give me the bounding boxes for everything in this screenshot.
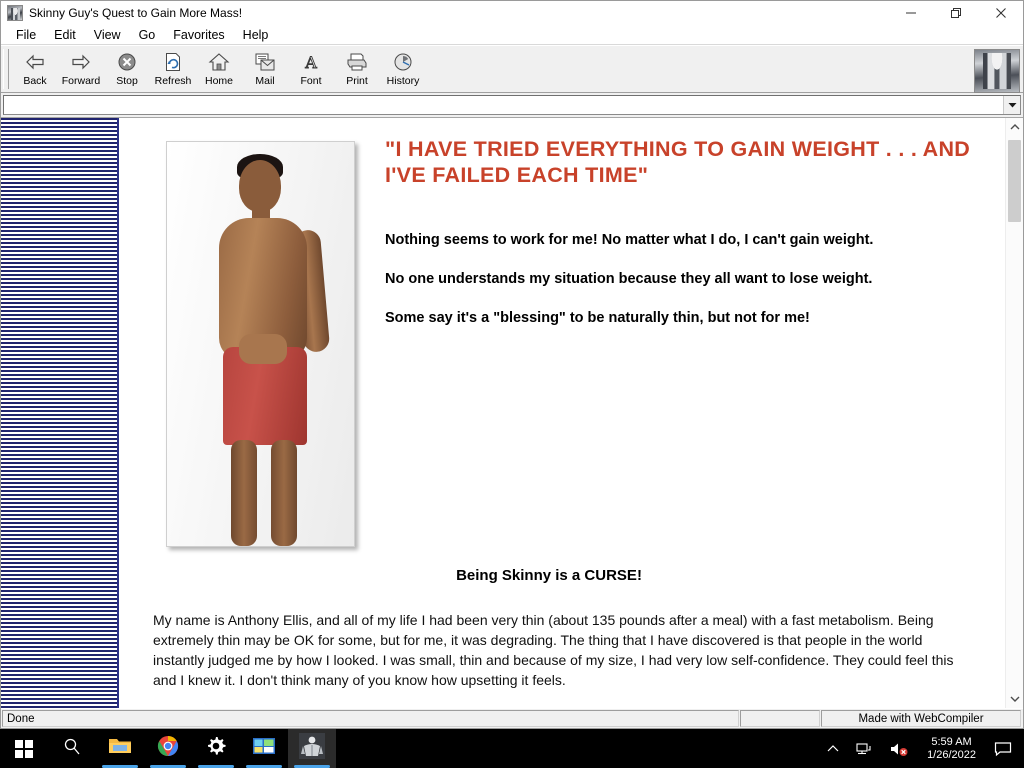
scrollbar-track[interactable] — [1006, 136, 1023, 690]
clock-date: 1/26/2022 — [927, 749, 976, 762]
restore-icon[interactable] — [933, 1, 978, 25]
scrollbar-thumb[interactable] — [1008, 140, 1021, 222]
refresh-page-icon — [161, 51, 185, 73]
chrome-icon — [157, 735, 179, 762]
search-icon — [63, 737, 81, 760]
back-button[interactable]: Back — [12, 48, 58, 92]
system-tray: 5:59 AM 1/26/2022 — [819, 729, 1024, 768]
forward-label: Forward — [62, 75, 101, 87]
lead-paragraph-3: Some say it's a "blessing" to be natural… — [385, 308, 989, 329]
menu-item-file[interactable]: File — [7, 25, 45, 45]
font-label: Font — [300, 75, 321, 87]
window-controls — [888, 1, 1023, 25]
menu-item-edit[interactable]: Edit — [45, 25, 85, 45]
mail-envelope-icon — [253, 51, 277, 73]
lead-paragraph-1: Nothing seems to work for me! No matter … — [385, 230, 989, 251]
mail-tiles-icon — [252, 736, 276, 761]
striped-sidebar — [1, 118, 119, 708]
mail-button[interactable]: Mail — [242, 48, 288, 92]
notification-icon[interactable] — [986, 729, 1020, 768]
chevron-up-icon[interactable] — [819, 729, 847, 768]
clock-time: 5:59 AM — [927, 736, 976, 749]
close-icon[interactable] — [978, 1, 1023, 25]
printer-icon — [345, 51, 369, 73]
start-button[interactable] — [0, 729, 48, 768]
arrow-left-icon — [23, 51, 47, 73]
browser-window: Skinny Guy's Quest to Gain More Mass! — [0, 0, 1024, 729]
font-button[interactable]: A Font — [288, 48, 334, 92]
sub-headline: Being Skinny is a CURSE! — [149, 567, 989, 584]
bodybuilder-torso-image — [974, 49, 1020, 93]
file-explorer-button[interactable] — [96, 729, 144, 768]
network-icon[interactable] — [847, 729, 881, 768]
home-button[interactable]: Home — [196, 48, 242, 92]
chevron-down-icon[interactable] — [1006, 690, 1023, 708]
menu-item-favorites[interactable]: Favorites — [164, 25, 233, 45]
volume-muted-icon[interactable] — [881, 729, 917, 768]
thin-man-in-red-shorts-photo — [166, 141, 355, 547]
status-credit: Made with WebCompiler — [821, 710, 1021, 727]
stop-x-circle-icon — [115, 51, 139, 73]
body-paragraph: My name is Anthony Ellis, and all of my … — [149, 610, 989, 690]
gear-icon — [205, 735, 227, 762]
svg-text:A: A — [304, 53, 317, 72]
address-input[interactable] — [3, 95, 1021, 115]
minimize-icon[interactable] — [888, 1, 933, 25]
toolbar: Back Forward — [1, 45, 1023, 93]
taskbar-clock[interactable]: 5:59 AM 1/26/2022 — [917, 736, 986, 762]
history-clock-icon — [391, 51, 415, 73]
vertical-scrollbar[interactable] — [1005, 118, 1023, 708]
menu-item-go[interactable]: Go — [130, 25, 165, 45]
screen: Skinny Guy's Quest to Gain More Mass! — [0, 0, 1024, 768]
font-letter-a-icon: A — [299, 51, 323, 73]
lead-paragraph-2: No one understands my situation because … — [385, 269, 989, 290]
page-headline: "I HAVE TRIED EVERYTHING TO GAIN WEIGHT … — [385, 136, 989, 188]
title-bar: Skinny Guy's Quest to Gain More Mass! — [1, 1, 1023, 25]
document-body: "I HAVE TRIED EVERYTHING TO GAIN WEIGHT … — [119, 118, 1023, 708]
chrome-button[interactable] — [144, 729, 192, 768]
windows-logo-icon — [15, 740, 33, 758]
history-button[interactable]: History — [380, 48, 426, 92]
status-middle — [740, 710, 820, 727]
mail-button[interactable] — [240, 729, 288, 768]
bodybuilder-icon — [299, 733, 325, 764]
refresh-button[interactable]: Refresh — [150, 48, 196, 92]
back-label: Back — [23, 75, 46, 87]
print-label: Print — [346, 75, 368, 87]
page-content-area: "I HAVE TRIED EVERYTHING TO GAIN WEIGHT … — [1, 117, 1023, 708]
hero-text-column: "I HAVE TRIED EVERYTHING TO GAIN WEIGHT … — [355, 136, 989, 347]
refresh-label: Refresh — [155, 75, 192, 87]
folder-icon — [108, 736, 132, 761]
status-bar: Done Made with WebCompiler — [1, 708, 1023, 728]
menu-item-help[interactable]: Help — [234, 25, 278, 45]
window-title: Skinny Guy's Quest to Gain More Mass! — [29, 6, 242, 20]
app-button[interactable] — [288, 729, 336, 768]
search-button[interactable] — [48, 729, 96, 768]
history-label: History — [387, 75, 420, 87]
home-label: Home — [205, 75, 233, 87]
arrow-right-icon — [69, 51, 93, 73]
forward-button[interactable]: Forward — [58, 48, 104, 92]
settings-button[interactable] — [192, 729, 240, 768]
stop-label: Stop — [116, 75, 138, 87]
windows-taskbar: 5:59 AM 1/26/2022 — [0, 729, 1024, 768]
mail-label: Mail — [255, 75, 274, 87]
toolbar-grip[interactable] — [3, 49, 9, 89]
home-icon — [207, 51, 231, 73]
stop-button[interactable]: Stop — [104, 48, 150, 92]
print-button[interactable]: Print — [334, 48, 380, 92]
status-message: Done — [2, 710, 739, 727]
bodybuilder-icon — [7, 5, 23, 21]
menu-item-view[interactable]: View — [85, 25, 130, 45]
address-bar — [1, 93, 1023, 117]
chevron-down-icon[interactable] — [1003, 96, 1020, 114]
chevron-up-icon[interactable] — [1006, 118, 1023, 136]
hero-section: "I HAVE TRIED EVERYTHING TO GAIN WEIGHT … — [149, 136, 989, 547]
menu-bar: File Edit View Go Favorites Help — [1, 25, 1023, 45]
toolbar-buttons: Back Forward — [12, 46, 426, 92]
